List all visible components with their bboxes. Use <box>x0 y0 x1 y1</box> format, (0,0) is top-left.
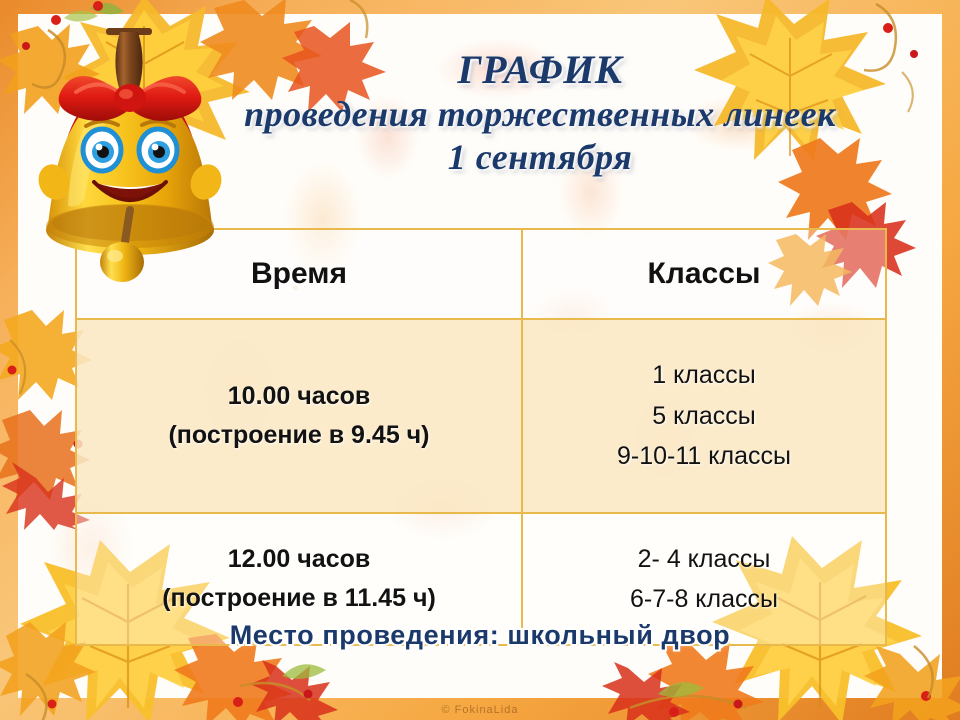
class-line: 2- 4 классы <box>529 539 879 580</box>
table-header-row: Время Классы <box>76 229 886 319</box>
table-row: 10.00 часов (построение в 9.45 ч) 1 клас… <box>76 319 886 513</box>
class-line: 1 классы <box>529 355 879 396</box>
title-line-1: ГРАФИК <box>170 48 910 91</box>
schedule-table: Время Классы 10.00 часов (построение в 9… <box>75 228 887 646</box>
venue-footer-text: Место проведения: школьный двор <box>0 620 960 651</box>
schedule-poster: ГРАФИК проведения торжественных линеек 1… <box>0 0 960 720</box>
poster-title-block: ГРАФИК проведения торжественных линеек 1… <box>170 48 910 177</box>
class-line: 9-10-11 классы <box>529 436 879 477</box>
time-line: 12.00 часов <box>83 540 515 579</box>
column-header-time: Время <box>76 229 522 319</box>
watermark: © FokinaLida <box>0 704 960 716</box>
cell-classes-1: 1 классы 5 классы 9-10-11 классы <box>522 319 886 513</box>
time-line: (построение в 9.45 ч) <box>83 416 515 455</box>
time-line: (построение в 11.45 ч) <box>83 579 515 618</box>
title-line-2: проведения торжественных линеек <box>170 95 910 134</box>
class-line: 6-7-8 классы <box>529 579 879 620</box>
cell-time-1: 10.00 часов (построение в 9.45 ч) <box>76 319 522 513</box>
title-line-3: 1 сентября <box>170 138 910 177</box>
time-line: 10.00 часов <box>83 377 515 416</box>
class-line: 5 классы <box>529 396 879 437</box>
column-header-classes: Классы <box>522 229 886 319</box>
